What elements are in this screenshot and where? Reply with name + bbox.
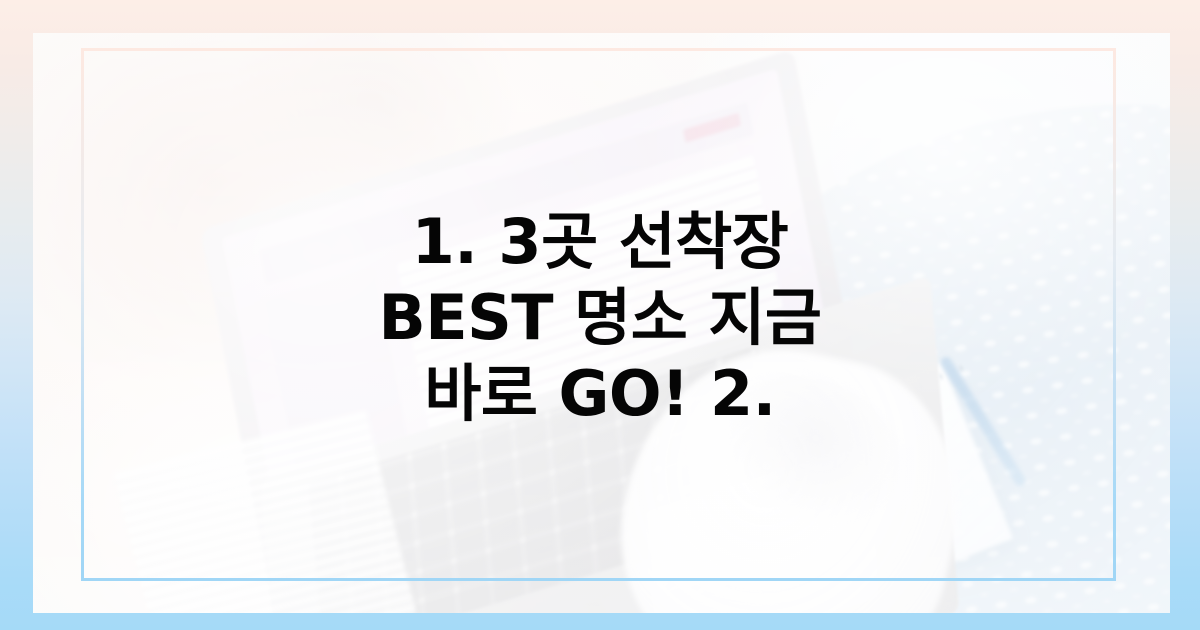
thumbnail-canvas: 1. 3곳 선착장 BEST 명소 지금 바로 GO! 2. xyxy=(0,0,1200,630)
background-photo-frame xyxy=(33,33,1170,613)
